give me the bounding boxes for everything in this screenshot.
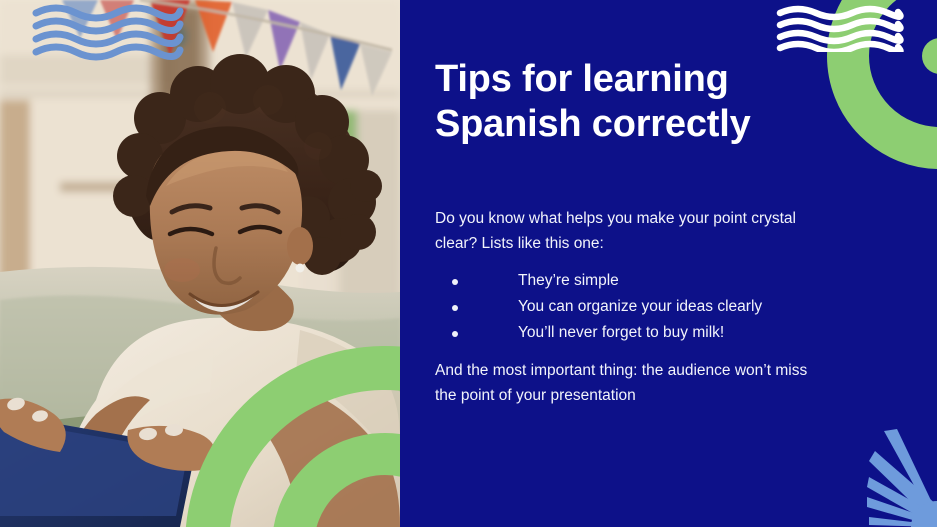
presentation-slide: Tips for learning Spanish correctly Do y… <box>0 0 937 527</box>
page-title: Tips for learning Spanish correctly <box>435 57 895 147</box>
list-item: You’ll never forget to buy milk! <box>435 320 835 346</box>
bullet-dot-icon <box>452 279 458 285</box>
page-title-line-1: Tips for learning <box>435 57 895 102</box>
slide-content-panel: Tips for learning Spanish correctly Do y… <box>400 0 937 527</box>
wavy-lines-white <box>774 4 904 52</box>
slide-photo <box>0 0 400 527</box>
photo-illustration <box>0 0 400 527</box>
page-title-line-2: Spanish correctly <box>435 102 895 147</box>
list-item-label: They’re simple <box>518 272 619 289</box>
list-item-label: You’ll never forget to buy milk! <box>518 324 724 341</box>
intro-paragraph: Do you know what helps you make your poi… <box>435 206 825 256</box>
closing-paragraph: And the most important thing: the audien… <box>435 358 815 408</box>
bullet-list: They’re simple You can organize your ide… <box>435 268 835 346</box>
starburst-blue-icon <box>867 427 937 527</box>
list-item: They’re simple <box>435 268 835 294</box>
bullet-dot-icon <box>452 305 458 311</box>
list-item-label: You can organize your ideas clearly <box>518 298 762 315</box>
list-item: You can organize your ideas clearly <box>435 294 835 320</box>
bullet-dot-icon <box>452 331 458 337</box>
